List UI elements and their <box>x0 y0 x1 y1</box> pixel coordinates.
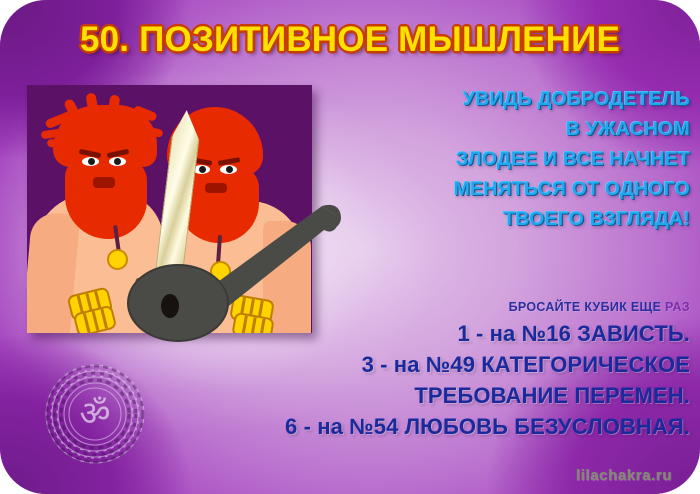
crown-chakra-icon: ॐ <box>36 358 154 470</box>
warrior-left-mouth <box>93 177 115 188</box>
warrior-left-beard <box>65 159 147 239</box>
quote-line: В УЖАСНОМ <box>356 114 690 144</box>
warrior-left-pupil <box>88 158 95 165</box>
outcomes-list: 1 - на №16 ЗАВИСТЬ. 3 - на №49 КАТЕГОРИЧ… <box>150 318 690 442</box>
om-symbol: ॐ <box>79 394 110 434</box>
quote-line: МЕНЯТЬСЯ ОТ ОДНОГО <box>356 174 690 204</box>
warrior-right-pupil <box>226 166 233 173</box>
quote-line: ЗЛОДЕЕ И ВСЕ НАЧНЕТ <box>356 144 690 174</box>
warrior-right-pupil <box>199 166 206 173</box>
roll-again-text: БРОСАЙТЕ КУБИК ЕЩЕ <box>509 300 662 314</box>
warrior-left-pupil <box>114 158 121 165</box>
outcome-line: 1 - на №16 ЗАВИСТЬ. <box>150 318 690 349</box>
outcome-line: ТРЕБОВАНИЕ ПЕРЕМЕН. <box>150 380 690 411</box>
quote-line: ТВОЕГО ВЗГЛЯДА! <box>356 204 690 234</box>
illustration-canvas <box>27 85 312 333</box>
quote-block: УВИДЬ ДОБРОДЕТЕЛЬ В УЖАСНОМ ЗЛОДЕЕ И ВСЕ… <box>356 84 690 234</box>
illustration-panel <box>27 85 312 333</box>
game-card: 50. ПОЗИТИВНОЕ МЫШЛЕНИЕ <box>0 0 700 494</box>
watermark: lilachakra.ru <box>576 467 672 484</box>
quote-line: УВИДЬ ДОБРОДЕТЕЛЬ <box>356 84 690 114</box>
necklace-medallion <box>210 261 231 282</box>
outcome-line: 6 - на №54 ЛЮБОВЬ БЕЗУСЛОВНАЯ. <box>150 411 690 442</box>
page-title: 50. ПОЗИТИВНОЕ МЫШЛЕНИЕ <box>80 20 620 60</box>
roll-again-highlight: РАЗ <box>665 300 690 314</box>
card-title-bar: 50. ПОЗИТИВНОЕ МЫШЛЕНИЕ <box>0 16 700 64</box>
outcome-line: 3 - на №49 КАТЕГОРИЧЕСКОЕ <box>150 349 690 380</box>
necklace-medallion <box>107 249 128 270</box>
warrior-right-mouth <box>205 183 227 193</box>
roll-again-instruction: БРОСАЙТЕ КУБИК ЕЩЕ РАЗ <box>356 300 690 314</box>
